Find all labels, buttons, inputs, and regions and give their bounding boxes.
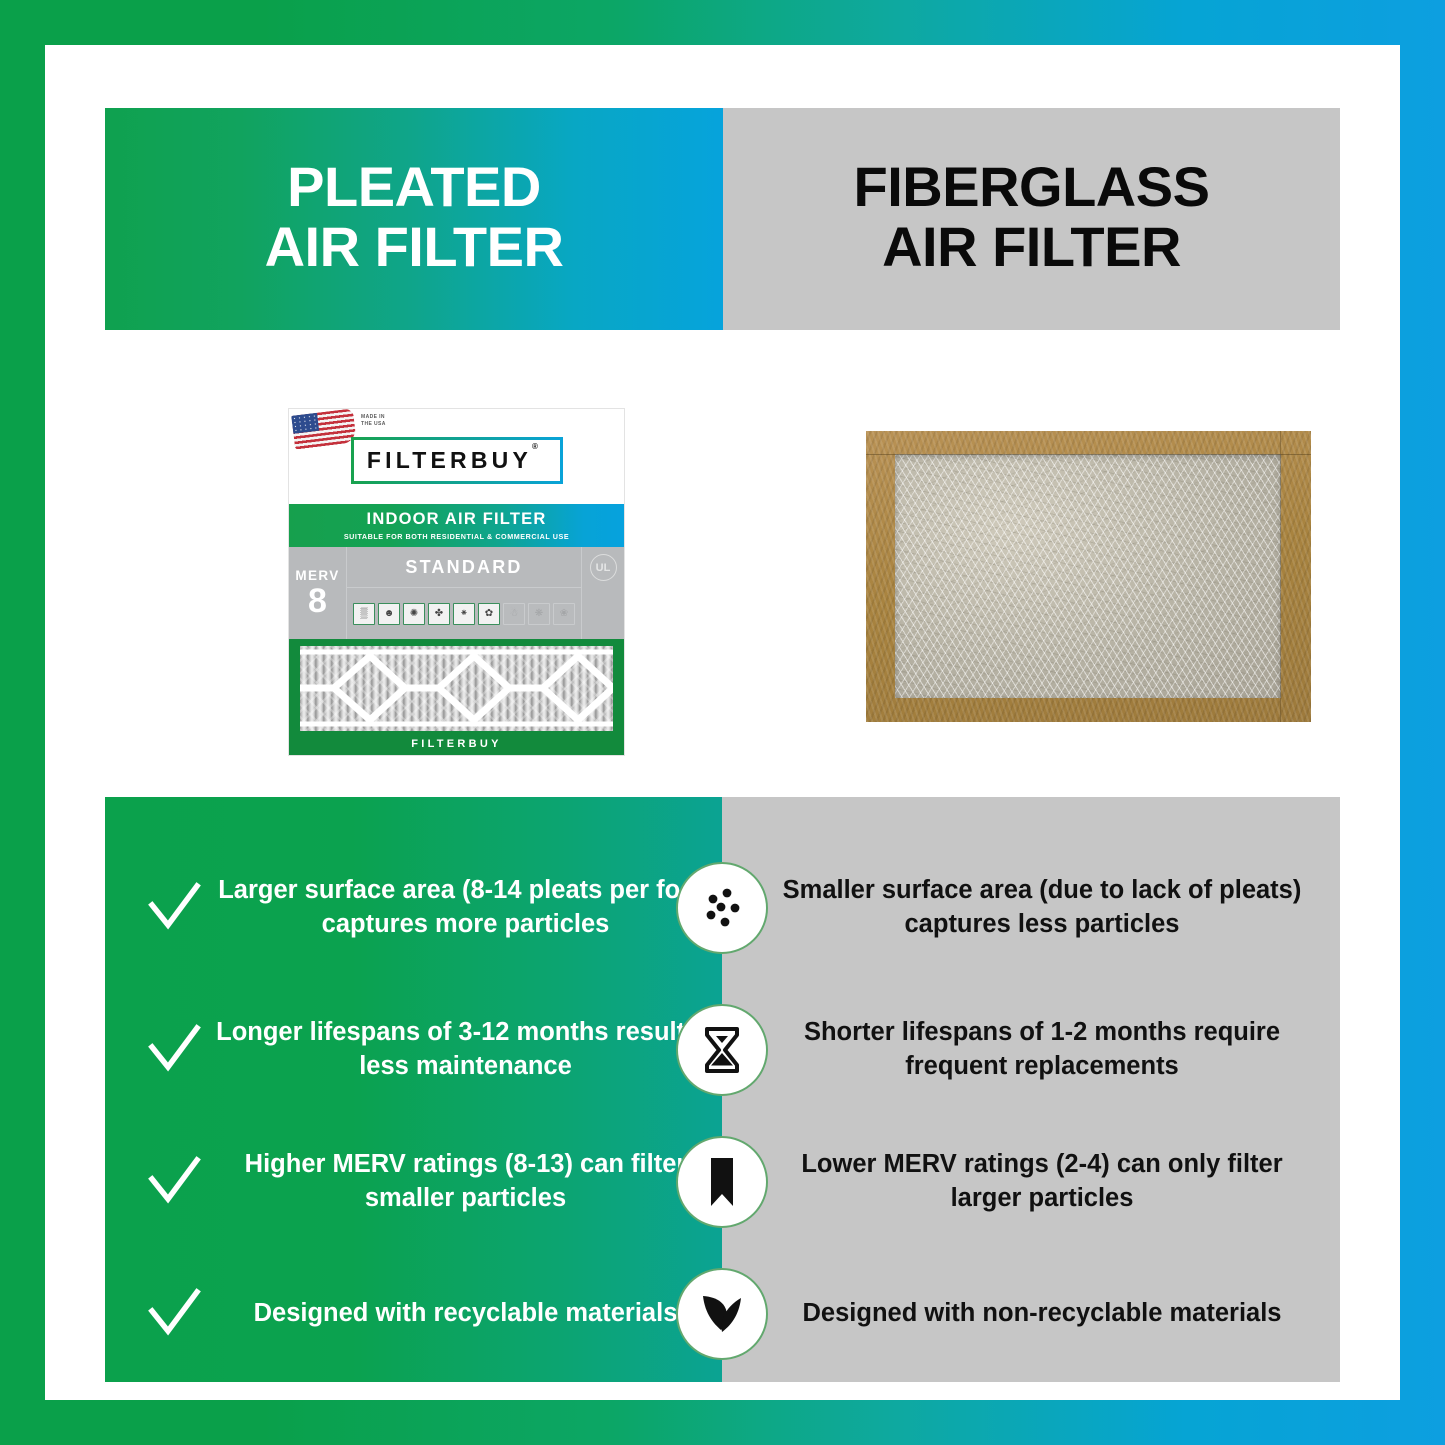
cardboard-right-rail — [1280, 431, 1311, 722]
merv-value: 8 — [308, 584, 327, 618]
row-pleated-text: Designed with recyclable materials — [215, 1297, 722, 1331]
cardboard-top-rail — [866, 431, 1311, 455]
band-sub-label: SUITABLE FOR BOTH RESIDENTIAL & COMMERCI… — [344, 532, 569, 541]
hourglass-icon — [676, 1004, 768, 1096]
virus-icon: ❀ — [553, 603, 575, 625]
row-fiberglass-text: Lower MERV ratings (2-4) can only filter… — [722, 1148, 1340, 1216]
table-row: Designed with recyclable materials Desig… — [105, 1251, 1340, 1377]
filter-brand-line: FILTERBUY — [289, 738, 624, 750]
row-fiberglass-text: Shorter lifespans of 1-2 months require … — [722, 1016, 1340, 1084]
checkmark-icon — [133, 1287, 215, 1341]
checkmark-icon — [133, 881, 215, 935]
filterbuy-logo: FILTERBUY® — [351, 437, 563, 484]
row-pleated-cell: Longer lifespans of 3-12 months result i… — [105, 1016, 722, 1084]
pleated-title: PLEATED AIR FILTER — [265, 157, 564, 277]
row-fiberglass-text: Designed with non-recyclable materials — [722, 1297, 1340, 1331]
row-pleated-text: Longer lifespans of 3-12 months result i… — [215, 1016, 722, 1084]
fiberglass-title: FIBERGLASS AIR FILTER — [854, 157, 1210, 277]
checkmark-icon — [133, 1155, 215, 1209]
capture-icon-row: ▒ ☻ ✺ ✤ ⁕ ✿ ☃ ❋ ❀ — [347, 588, 581, 639]
mold-icon: ✺ — [403, 603, 425, 625]
fiberglass-filter-product-image — [866, 431, 1311, 722]
ribbon-bookmark-icon — [676, 1136, 768, 1228]
table-row: Larger surface area (8-14 pleats per foo… — [105, 835, 1340, 981]
header-fiberglass-panel: FIBERGLASS AIR FILTER — [723, 108, 1340, 330]
dust-mite-icon: ✤ — [428, 603, 450, 625]
row-pleated-cell: Higher MERV ratings (8-13) can filter sm… — [105, 1148, 722, 1216]
checkmark-icon — [133, 1023, 215, 1077]
dust-lint-icon: ▒ — [353, 603, 375, 625]
wire-support-grid — [300, 646, 613, 731]
row-pleated-cell: Larger surface area (8-14 pleats per foo… — [105, 874, 722, 942]
bacteria-icon: ⁕ — [453, 603, 475, 625]
row-pleated-text: Larger surface area (8-14 pleats per foo… — [215, 874, 722, 942]
package-top-section: MADE IN THE USA FILTERBUY® — [289, 409, 624, 504]
pet-dander-icon: ✿ — [478, 603, 500, 625]
particles-icon — [676, 862, 768, 954]
product-images-band: MADE IN THE USA FILTERBUY® INDOOR AIR FI… — [105, 330, 1340, 797]
pleated-filter-product-image: MADE IN THE USA FILTERBUY® INDOOR AIR FI… — [289, 409, 624, 755]
ul-certification-block: UL — [581, 547, 624, 639]
leaf-icon — [676, 1268, 768, 1360]
infographic-canvas: PLEATED AIR FILTER FIBERGLASS AIR FILTER… — [45, 45, 1400, 1400]
merv-block: MERV 8 — [289, 547, 347, 639]
gradient-frame: PLEATED AIR FILTER FIBERGLASS AIR FILTER… — [0, 0, 1445, 1445]
pollen-icon: ☻ — [378, 603, 400, 625]
indoor-air-filter-band: INDOOR AIR FILTER SUITABLE FOR BOTH RESI… — [289, 504, 624, 547]
ul-mark-icon: UL — [590, 554, 617, 581]
comparison-table: Larger surface area (8-14 pleats per foo… — [105, 797, 1340, 1382]
row-pleated-cell: Designed with recyclable materials — [105, 1287, 722, 1341]
grade-and-icons: STANDARD ▒ ☻ ✺ ✤ ⁕ ✿ ☃ ❋ ❀ — [347, 547, 581, 639]
header-bar: PLEATED AIR FILTER FIBERGLASS AIR FILTER — [105, 108, 1340, 330]
smog-icon: ❋ — [528, 603, 550, 625]
registered-mark: ® — [532, 442, 542, 451]
grade-label: STANDARD — [347, 547, 581, 588]
merv-spec-section: MERV 8 STANDARD ▒ ☻ ✺ ✤ ⁕ ✿ ☃ — [289, 547, 624, 639]
header-pleated-panel: PLEATED AIR FILTER — [105, 108, 723, 330]
row-fiberglass-text: Smaller surface area (due to lack of ple… — [722, 874, 1340, 942]
pleated-media-window: FILTERBUY — [289, 639, 624, 755]
table-row: Higher MERV ratings (8-13) can filter sm… — [105, 1119, 1340, 1245]
smoke-icon: ☃ — [503, 603, 525, 625]
fiberglass-media-texture — [895, 454, 1281, 698]
merv-label: MERV — [295, 568, 339, 583]
table-row: Longer lifespans of 3-12 months result i… — [105, 987, 1340, 1113]
filterbuy-wordmark: FILTERBUY — [367, 447, 532, 473]
row-pleated-text: Higher MERV ratings (8-13) can filter sm… — [215, 1148, 722, 1216]
usa-flag-icon — [291, 409, 357, 450]
band-main-label: INDOOR AIR FILTER — [367, 510, 547, 529]
made-in-usa-label: MADE IN THE USA — [361, 414, 386, 429]
